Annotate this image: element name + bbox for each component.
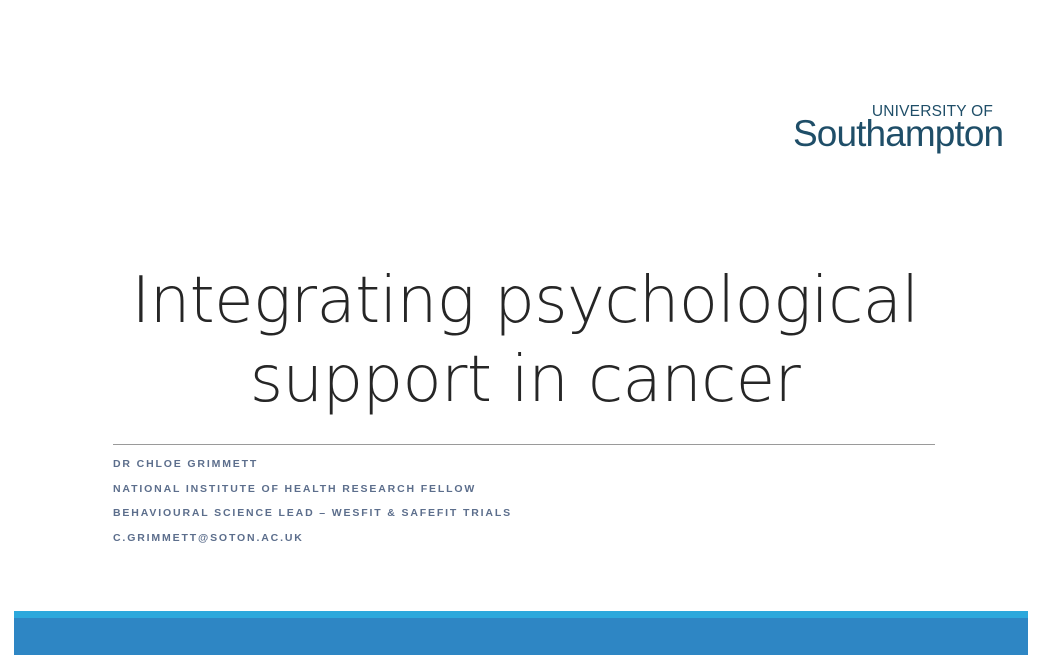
bottom-accent-bar — [14, 611, 1028, 655]
slide-title: Integrating psychological support in can… — [60, 262, 990, 419]
title-divider-rule — [113, 444, 935, 445]
presenter-email: C.GRIMMETT@SOTON.AC.UK — [113, 526, 973, 551]
logo-wordmark-text: Southampton — [793, 115, 1003, 154]
slide-title-line-1: Integrating psychological — [60, 262, 990, 341]
presenter-details: DR CHLOE GRIMMETT NATIONAL INSTITUTE OF … — [113, 452, 973, 551]
presenter-role: NATIONAL INSTITUTE OF HEALTH RESEARCH FE… — [113, 477, 973, 502]
presenter-name: DR CHLOE GRIMMETT — [113, 452, 973, 477]
accent-bar-body — [14, 618, 1028, 655]
presentation-slide: UNIVERSITY OF Southampton Integrating ps… — [0, 0, 1043, 655]
presenter-affiliation: BEHAVIOURAL SCIENCE LEAD – WESFIT & SAFE… — [113, 501, 973, 526]
slide-title-line-2: support in cancer — [60, 341, 990, 420]
accent-bar-highlight-stripe — [14, 611, 1028, 618]
university-of-southampton-logo: UNIVERSITY OF Southampton — [793, 104, 993, 154]
